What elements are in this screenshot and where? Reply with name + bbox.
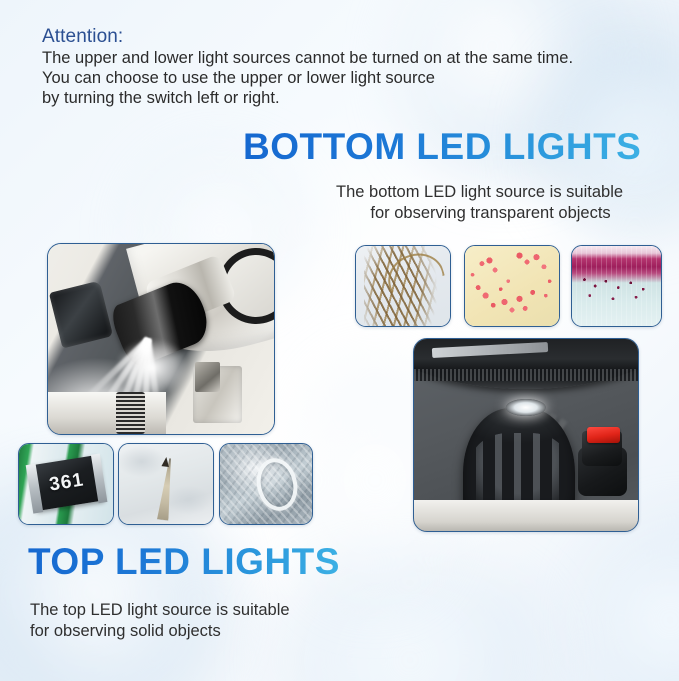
bottom-led-caption-line-1: The bottom LED light source is suitable [336, 183, 623, 201]
microscope-light-glow [116, 339, 188, 396]
attention-line-3: by turning the switch left or right. [42, 88, 573, 108]
microscope-photo-backdrop [48, 244, 274, 434]
object-smd-resistor-image: 361 [19, 444, 113, 524]
specimen-blood-cells-image [465, 246, 559, 326]
object-metal-ring-photo [219, 443, 313, 525]
led-power-knob-red-cap [587, 427, 621, 442]
led-dome-vent-slots [470, 433, 569, 502]
top-led-caption: The top LED light source is suitable for… [30, 600, 290, 642]
specimen-plant-bristles-photo [355, 245, 451, 327]
attention-line-2: You can choose to use the upper or lower… [42, 68, 573, 88]
specimen-blood-cells-photo [464, 245, 560, 327]
object-needle-tip-photo [118, 443, 214, 525]
top-led-caption-line-1: The top LED light source is suitable [30, 601, 290, 619]
led-dome-base-plate [414, 500, 638, 531]
attention-title: Attention: [42, 27, 573, 48]
top-led-heading: TOP LED LIGHTS [28, 543, 340, 580]
specimen-tissue-section-photo [571, 245, 662, 327]
specimen-plant-bristles-image [356, 246, 450, 326]
smd-resistor-label: 361 [48, 470, 86, 497]
led-dome-photo-backdrop [414, 339, 638, 531]
attention-notice: Attention: The upper and lower light sou… [42, 27, 573, 108]
object-needle-tip-image [119, 444, 213, 524]
product-infographic: Attention: The upper and lower light sou… [0, 0, 679, 681]
object-smd-resistor-photo: 361 [18, 443, 114, 525]
metal-ring-mark [252, 455, 303, 515]
object-metal-ring-image [220, 444, 312, 524]
microscope-stage-clip [49, 280, 113, 348]
attention-line-1: The upper and lower light sources cannot… [42, 48, 573, 68]
bottom-led-caption: The bottom LED light source is suitable … [336, 182, 623, 224]
specimen-tissue-section-image [572, 246, 661, 326]
microscope-spring [116, 392, 145, 434]
needle-body [157, 458, 177, 521]
bottom-led-dome-photo [413, 338, 639, 532]
microscope-stage [47, 392, 166, 434]
top-led-caption-line-2: for observing solid objects [30, 621, 290, 642]
bottom-led-caption-line-2: for observing transparent objects [336, 203, 623, 224]
smd-resistor-chip: 361 [29, 455, 105, 512]
microscope-head-photo [47, 243, 275, 435]
bottom-led-heading: BOTTOM LED LIGHTS [243, 128, 641, 165]
microscope-thumb-nut [195, 362, 220, 392]
